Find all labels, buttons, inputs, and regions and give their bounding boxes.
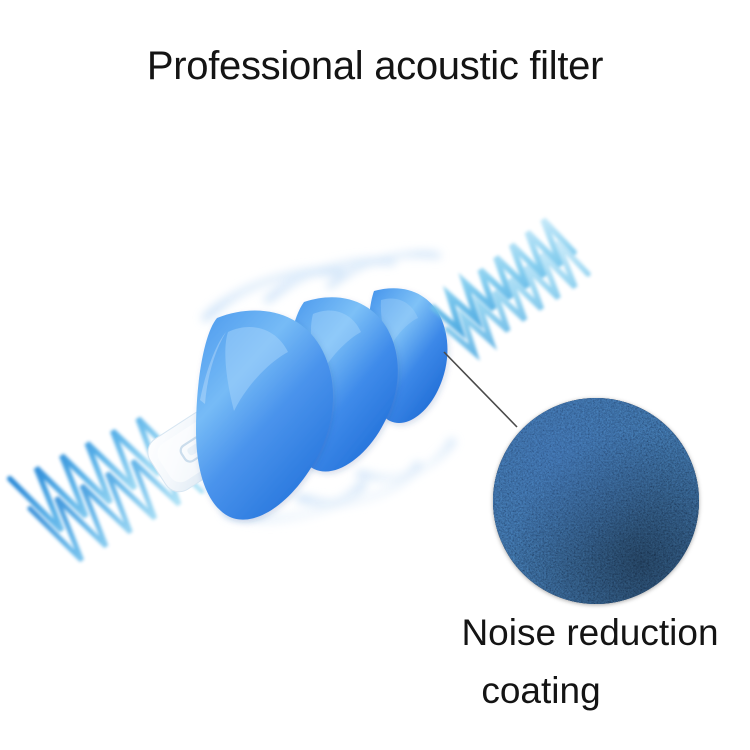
callout-caption: Noise reduction coating bbox=[430, 604, 750, 720]
outgoing-sound-wave bbox=[426, 215, 590, 358]
coating-grain-texture bbox=[493, 398, 699, 604]
product-infographic: Professional acoustic filter Noise reduc… bbox=[0, 0, 750, 750]
coating-closeup-circle bbox=[493, 398, 699, 604]
callout-caption-line1: Noise reduction bbox=[430, 604, 750, 662]
page-title: Professional acoustic filter bbox=[0, 44, 750, 89]
callout-caption-line2: coating bbox=[430, 662, 750, 720]
earplug-flange-1 bbox=[196, 311, 333, 520]
